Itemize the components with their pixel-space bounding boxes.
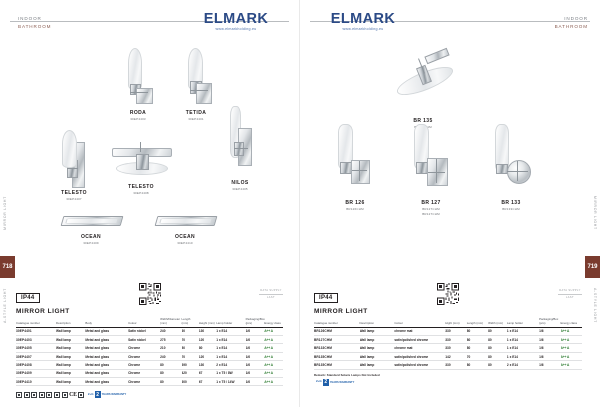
cell-value: 1 x T5 / 14W [216, 377, 245, 385]
table-row[interactable]: 30EP4407Wall lampMetal and glassChrome24… [16, 352, 283, 360]
cell-energy-class: A++ A [264, 361, 283, 369]
data-supply-note-left: DATA SUPPLY LAST [259, 289, 283, 300]
energy-class-badge: A++ A [561, 338, 570, 342]
col-lamp-holder: Lamp holder [216, 318, 245, 327]
product-telesto-1[interactable]: TELESTO 30EP4407 [44, 128, 104, 202]
warranty-badge-left: 2+G 2 YEARS WARRANTY [88, 391, 126, 398]
warranty-badge-right: 2+G 2 YEARS WARRANTY [316, 379, 354, 386]
data-supply-label: DATA SUPPLY [260, 289, 282, 292]
cell-value: Chrome [128, 344, 160, 352]
cell-value: Metal and glass [85, 327, 128, 335]
warranty-plus-label: 2+G [88, 393, 94, 396]
cell-value: 60 [182, 327, 199, 335]
cell-value: Metal and glass [85, 336, 128, 344]
left-table-body: 30EP4401Wall lampMetal and glassSatin ni… [16, 327, 283, 386]
cell-value: Wall lamp [56, 369, 85, 377]
cell-catalogue-number: BR135CHM [314, 352, 360, 360]
cell-value: Metal and glass [85, 344, 128, 352]
product-ocean-1[interactable]: OCEAN 30EP4409 [56, 208, 126, 246]
product-name: OCEAN [56, 234, 126, 241]
cell-value: 120 [199, 352, 216, 360]
warranty-text: YEARS WARRANTY [330, 381, 355, 384]
category-line-1: INDOOR [555, 15, 588, 23]
cell-value: 2 x E14 [216, 361, 245, 369]
warranty-plus-label: 2+G [316, 380, 322, 383]
warranty-text: YEARS WARRANTY [102, 393, 127, 396]
energy-class-badge: A++ A [561, 329, 570, 333]
right-table-note: Remark: Standard Sokets Lamps Not Includ… [314, 373, 582, 377]
cell-energy-class: A++ A [264, 336, 283, 344]
left-spec-table: Catalogue number Description Body Colour… [16, 318, 283, 386]
data-supply-sub: LAST [267, 296, 275, 299]
col-packaging: Packaging/Box (pcs) [539, 318, 560, 327]
cell-value: Wall lamp [56, 377, 85, 385]
product-code: 30EP4407 [44, 197, 104, 202]
cell-value: Wall lamp [360, 344, 395, 352]
dimmable-icon [54, 392, 60, 398]
col-width: Width/Diameter (mm) [160, 318, 181, 327]
cell-value: Metal and glass [85, 377, 128, 385]
product-telesto-2[interactable]: TELESTO 30EP4408 [104, 140, 178, 196]
right-table-body: BR126CHMWall lampchrome mat33080801 x E1… [314, 327, 582, 369]
cell-value: satin/polished chrome [394, 352, 445, 360]
table-row[interactable]: BR133CHMWall lampchrome mat33080801 x E1… [314, 344, 582, 352]
energy-class-badge: A++ A [264, 338, 273, 342]
col-energy-class: Energy class [264, 318, 283, 327]
col-colour: Colour [128, 318, 160, 327]
right-side-label-bottom: A-STYLE LIGHT [593, 288, 597, 323]
energy-class-badge: A++ A [561, 346, 570, 350]
cell-value: 330 [445, 336, 466, 344]
cell-energy-class: A++ A [561, 336, 583, 344]
table-header-row: Catalogue number Description Colour High… [314, 318, 582, 327]
col-height: Height (mm) [199, 318, 216, 327]
right-spec-block: DATA SUPPLY LAST IP44 MIRROR LIGHT Catal… [314, 286, 582, 386]
spec-title-right: MIRROR LIGHT [314, 308, 582, 315]
product-name: NILOS [210, 180, 270, 187]
table-row[interactable]: BR127CHMWall lampsatin/polished chrome33… [314, 336, 582, 344]
cell-value: 330 [445, 344, 466, 352]
cell-value: 330 [445, 327, 466, 335]
cell-value: 80 [160, 369, 181, 377]
cell-value: Wall lamp [56, 336, 85, 344]
cell-energy-class: A++ A [264, 344, 283, 352]
cell-value: 130 [199, 361, 216, 369]
energy-class-badge: A++ A [264, 329, 273, 333]
product-code: BR133CHM [478, 207, 544, 212]
table-row[interactable]: 30EP4401Wall lampMetal and glassSatin ni… [16, 327, 283, 335]
brand-url: www.elmarkholding.eu [308, 26, 418, 32]
cell-value: chrome mat [394, 344, 445, 352]
product-name: BR 133 [478, 200, 544, 207]
cell-value: 130 [199, 327, 216, 335]
cell-value: 80 [467, 336, 488, 344]
product-code: 30EP4405 [210, 187, 270, 192]
voltage-icon [46, 392, 52, 398]
left-category-label: INDOOR BATHROOM [18, 15, 51, 30]
cell-value: 1 x E14 [507, 352, 539, 360]
cell-value: 275 [160, 336, 181, 344]
col-description: Description [56, 318, 85, 327]
product-name: TELESTO [104, 184, 178, 191]
cell-value: 1/6 [539, 327, 560, 335]
table-header-row: Catalogue number Description Body Colour… [16, 318, 283, 327]
cell-catalogue-number: 30EP4410 [16, 377, 56, 385]
cell-value: Chrome [128, 352, 160, 360]
cell-value: 1 x E14 [216, 336, 245, 344]
col-body: Body [85, 318, 128, 327]
cell-value: Wall lamp [360, 352, 395, 360]
cell-value: satin/polished chrome [394, 336, 445, 344]
product-name: TELESTO [44, 190, 104, 197]
col-description: Description [360, 318, 395, 327]
cell-energy-class: A++ A [561, 352, 583, 360]
cell-value: 240 [160, 327, 181, 335]
cell-value: 67 [199, 369, 216, 377]
cell-value: Wall lamp [56, 352, 85, 360]
cell-value: 80 [488, 344, 507, 352]
cell-value: 80 [467, 344, 488, 352]
cell-value: Wall lamp [56, 327, 85, 335]
left-product-gallery: TELESTO 30EP4407 RODA 30EP4403 [0, 40, 299, 280]
cell-value: 80 [199, 344, 216, 352]
cell-energy-class: A++ A [561, 361, 583, 369]
cell-value: chrome mat [394, 327, 445, 335]
warranty-years: 2 [95, 391, 101, 398]
class-ii-icon [62, 392, 68, 398]
cell-value: 80 [488, 361, 507, 369]
cell-value: 1/6 [246, 377, 265, 385]
cell-value: 70 [182, 336, 199, 344]
cell-value: 390 [182, 361, 199, 369]
energy-class-badge: A++ A [561, 355, 570, 359]
cell-value: 420 [182, 369, 199, 377]
product-code: 30EP4403 [108, 117, 168, 122]
cell-value: 1/6 [246, 361, 265, 369]
cell-energy-class: A++ A [264, 377, 283, 385]
cell-catalogue-number: 30EP4407 [16, 352, 56, 360]
double-insulation-icon [78, 392, 84, 398]
col-width: Width (mm) [488, 318, 507, 327]
cell-value: 1/6 [246, 352, 265, 360]
cell-value: 80 [467, 327, 488, 335]
cell-value: Metal and glass [85, 352, 128, 360]
energy-class-badge: A++ A [264, 355, 273, 359]
cell-value: 1 x T5 / 8W [216, 369, 245, 377]
product-name: OCEAN [150, 234, 220, 241]
cell-value: 210 [160, 344, 181, 352]
cell-value: Metal and glass [85, 361, 128, 369]
cell-value: 1 x E14 [507, 344, 539, 352]
data-supply-sub: LAST [566, 296, 574, 299]
indoor-use-icon [24, 392, 30, 398]
cell-value: 142 [445, 352, 466, 360]
product-name: BR 126 [322, 200, 388, 207]
right-page-header: INDOOR BATHROOM ELMARK www.elmarkholding… [300, 12, 600, 38]
cell-value: 1/6 [539, 336, 560, 344]
cell-value: satin/polished chrome [394, 361, 445, 369]
data-supply-rule [558, 294, 582, 295]
energy-class-badge: A++ A [264, 363, 273, 367]
left-side-label-bottom: A-STYLE LIGHT [3, 288, 7, 323]
col-colour: Colour [394, 318, 445, 327]
cell-value: Wall lamp [360, 327, 395, 335]
cell-catalogue-number: BR127CHM [314, 336, 360, 344]
cell-value: Chrome [128, 369, 160, 377]
cell-value: Chrome [128, 361, 160, 369]
cell-value: Chrome [128, 377, 160, 385]
product-br126[interactable]: BR 126 BR126CHM [322, 122, 388, 212]
cell-energy-class: A++ A [264, 352, 283, 360]
cell-value: 2 x E14 [507, 361, 539, 369]
catalogue-spread: INDOOR BATHROOM ELMARK www.elmarkholding… [0, 0, 600, 407]
ce-mark-icon: CE [69, 392, 77, 398]
cell-value: 1 x E14 [216, 352, 245, 360]
cell-energy-class: A++ A [561, 327, 583, 335]
right-icon-strip: 2+G 2 YEARS WARRANTY [314, 379, 582, 386]
product-ocean-2[interactable]: OCEAN 30EP4410 [150, 208, 220, 246]
warranty-years: 2 [323, 379, 329, 386]
col-length: Length (mm) [182, 318, 199, 327]
qr-code-left[interactable] [139, 283, 161, 305]
cell-value: 120 [199, 336, 216, 344]
cell-value: Wall lamp [56, 344, 85, 352]
ip-protection-icon [16, 392, 22, 398]
cell-value: 1/6 [539, 344, 560, 352]
cell-value: 240 [160, 352, 181, 360]
ip-rating-badge-left: IP44 [16, 293, 40, 304]
product-code: 30EP4408 [104, 191, 178, 196]
cell-value: Metal and glass [85, 369, 128, 377]
ip-rating-badge-right: IP44 [314, 293, 338, 304]
cell-value: 80 [488, 327, 507, 335]
cell-value: 80 [160, 361, 181, 369]
qr-code-right[interactable] [437, 283, 459, 305]
energy-class-badge: A++ A [264, 371, 273, 375]
col-lamp-holder: Lamp holder [507, 318, 539, 327]
category-line-1: INDOOR [18, 15, 51, 23]
brand-name: ELMARK [308, 12, 418, 27]
table-row[interactable]: 30EP4408Wall lampMetal and glassChrome80… [16, 361, 283, 369]
right-page: INDOOR BATHROOM ELMARK www.elmarkholding… [300, 0, 600, 407]
cell-energy-class: A++ A [264, 369, 283, 377]
left-spec-block: DATA SUPPLY LAST IP44 MIRROR LIGHT Catal… [16, 286, 283, 398]
right-product-gallery: BR 135 BR135CHM BR 126 BR126CHM [300, 40, 600, 280]
cell-value: 67 [199, 377, 216, 385]
product-br133[interactable]: BR 133 BR133CHM [478, 122, 544, 212]
cell-value: 70 [182, 352, 199, 360]
data-supply-label: DATA SUPPLY [559, 289, 581, 292]
wall-mount-icon [31, 392, 37, 398]
cell-value: 80 [182, 344, 199, 352]
col-packaging: Packaging/Box (pcs) [246, 318, 265, 327]
brand-logo-right: ELMARK www.elmarkholding.eu [308, 12, 418, 32]
data-supply-note-right: DATA SUPPLY LAST [558, 289, 582, 300]
product-br135[interactable]: BR 135 BR135CHM [378, 46, 468, 130]
product-roda[interactable]: RODA 30EP4403 [108, 48, 168, 122]
col-hight: Hight (mm) [445, 318, 466, 327]
cell-value: 80 [467, 361, 488, 369]
table-row[interactable]: 30EP4409Wall lampMetal and glassChrome80… [16, 369, 283, 377]
table-row[interactable]: 30EP4410Wall lampMetal and glassChrome80… [16, 377, 283, 385]
cell-value: 1 x E14 [507, 327, 539, 335]
cell-value: 1/6 [246, 344, 265, 352]
cell-catalogue-number: 30EP4409 [16, 369, 56, 377]
left-page: INDOOR BATHROOM ELMARK www.elmarkholding… [0, 0, 300, 407]
table-row[interactable]: BR126CHMWall lampchrome mat33080801 x E1… [314, 327, 582, 335]
cell-value: Wall lamp [56, 361, 85, 369]
col-catalogue-number: Catalogue number [16, 318, 56, 327]
cell-value: 1/6 [539, 361, 560, 369]
energy-class-badge: A++ A [264, 380, 273, 384]
right-category-label: INDOOR BATHROOM [555, 15, 588, 30]
cell-catalogue-number: BR135CHM [314, 361, 360, 369]
cell-value: 1 x E14 [216, 344, 245, 352]
data-supply-rule [259, 294, 283, 295]
cell-catalogue-number: 30EP4408 [16, 361, 56, 369]
left-page-header: INDOOR BATHROOM ELMARK www.elmarkholding… [0, 12, 299, 38]
cell-value: 70 [467, 352, 488, 360]
product-br127[interactable]: BR 127 BR127CHM BR127CHM [398, 122, 464, 217]
cell-value: Satin nickel [128, 336, 160, 344]
category-line-2: BATHROOM [555, 23, 588, 31]
cell-value: 600 [182, 377, 199, 385]
product-code: BR126CHM [322, 207, 388, 212]
cell-catalogue-number: BR126CHM [314, 327, 360, 335]
product-name: RODA [108, 110, 168, 117]
cell-value: 1/6 [539, 352, 560, 360]
table-row[interactable]: 30EP4405Wall lampMetal and glassChrome21… [16, 344, 283, 352]
product-code-alt: BR127CHM [398, 212, 464, 217]
cell-value: Wall lamp [360, 361, 395, 369]
col-energy-class: Energy class [561, 318, 583, 327]
cell-energy-class: A++ A [561, 344, 583, 352]
cell-value: 330 [445, 361, 466, 369]
brand-url: www.elmarkholding.eu [181, 26, 291, 32]
category-line-2: BATHROOM [18, 23, 51, 31]
cell-energy-class: A++ A [264, 327, 283, 335]
table-row[interactable]: BR135CHMWall lampsatin/polished chrome33… [314, 361, 582, 369]
cell-value: 1/6 [246, 336, 265, 344]
cell-catalogue-number: 30EP4403 [16, 336, 56, 344]
cell-catalogue-number: 30EP4405 [16, 344, 56, 352]
cell-value: 1 x E14 [507, 336, 539, 344]
product-nilos[interactable]: NILOS 30EP4405 [210, 104, 270, 192]
cell-catalogue-number: BR133CHM [314, 344, 360, 352]
cell-value: 1 x E14 [216, 327, 245, 335]
table-row[interactable]: BR135CHMWall lampsatin/polished chrome14… [314, 352, 582, 360]
spec-title-left: MIRROR LIGHT [16, 308, 283, 315]
cell-value: 1/6 [246, 369, 265, 377]
right-spec-table: Catalogue number Description Colour High… [314, 318, 582, 370]
product-code: 30EP4409 [56, 241, 126, 246]
brand-name: ELMARK [181, 12, 291, 27]
cell-value: 80 [488, 352, 507, 360]
product-code: 30EP4410 [150, 241, 220, 246]
cell-value: Wall lamp [360, 336, 395, 344]
cell-value: 80 [160, 377, 181, 385]
bulb-icon [39, 392, 45, 398]
energy-class-badge: A++ A [561, 363, 570, 367]
col-catalogue-number: Catalogue number [314, 318, 360, 327]
product-name: BR 127 [398, 200, 464, 207]
cell-catalogue-number: 30EP4401 [16, 327, 56, 335]
cell-value: Satin nickel [128, 327, 160, 335]
left-icon-strip: CE 2+G 2 YEARS WARRANTY [16, 391, 283, 398]
col-length: Length (mm) [467, 318, 488, 327]
energy-class-badge: A++ A [264, 346, 273, 350]
cell-value: 80 [488, 336, 507, 344]
brand-logo-left: ELMARK www.elmarkholding.eu [181, 12, 291, 32]
table-row[interactable]: 30EP4403Wall lampMetal and glassSatin ni… [16, 336, 283, 344]
cell-value: 1/6 [246, 327, 265, 335]
